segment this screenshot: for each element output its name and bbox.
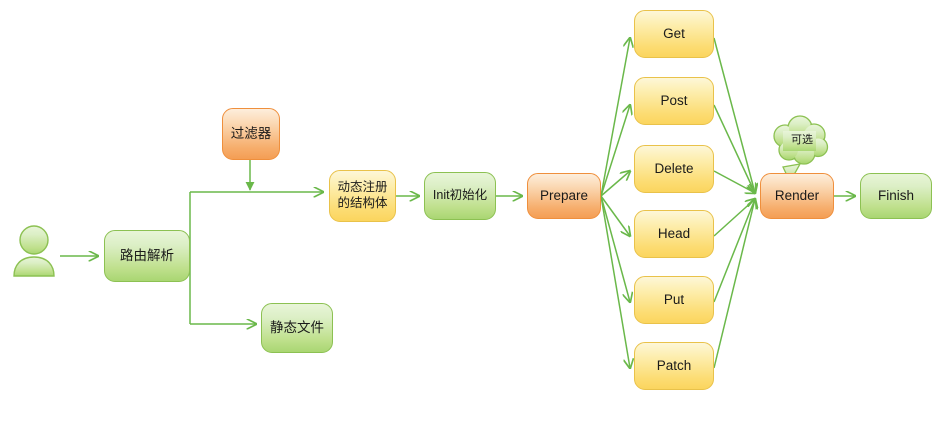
node-init[interactable]: Init初始化: [424, 172, 496, 220]
optional-cloud-label: 可选: [782, 131, 822, 147]
node-method-delete[interactable]: Delete: [634, 145, 714, 193]
node-filter[interactable]: 过滤器: [222, 108, 280, 160]
node-method-head[interactable]: Head: [634, 210, 714, 258]
node-method-patch[interactable]: Patch: [634, 342, 714, 390]
edge-head-to-render: [714, 199, 755, 236]
edge-prepare-to-patch: [601, 196, 630, 368]
flowchart-canvas: 可选 路由解析 过滤器 静态文件 动态注册 的结构体 Init初始化 Prepa…: [0, 0, 951, 448]
edge-layer: [0, 0, 951, 448]
node-dynamic-struct[interactable]: 动态注册 的结构体: [329, 170, 396, 222]
edge-delete-to-render: [714, 171, 755, 193]
node-method-get[interactable]: Get: [634, 10, 714, 58]
edge-get-to-render: [714, 38, 755, 193]
node-prepare[interactable]: Prepare: [527, 173, 601, 219]
edge-patch-to-render: [714, 199, 755, 368]
node-render[interactable]: Render: [760, 173, 834, 219]
node-route-parse[interactable]: 路由解析: [104, 230, 190, 282]
node-method-post[interactable]: Post: [634, 77, 714, 125]
node-finish[interactable]: Finish: [860, 173, 932, 219]
node-static-file[interactable]: 静态文件: [261, 303, 333, 353]
node-method-put[interactable]: Put: [634, 276, 714, 324]
user-actor: [14, 226, 54, 276]
edge-prepare-to-head: [601, 196, 630, 236]
